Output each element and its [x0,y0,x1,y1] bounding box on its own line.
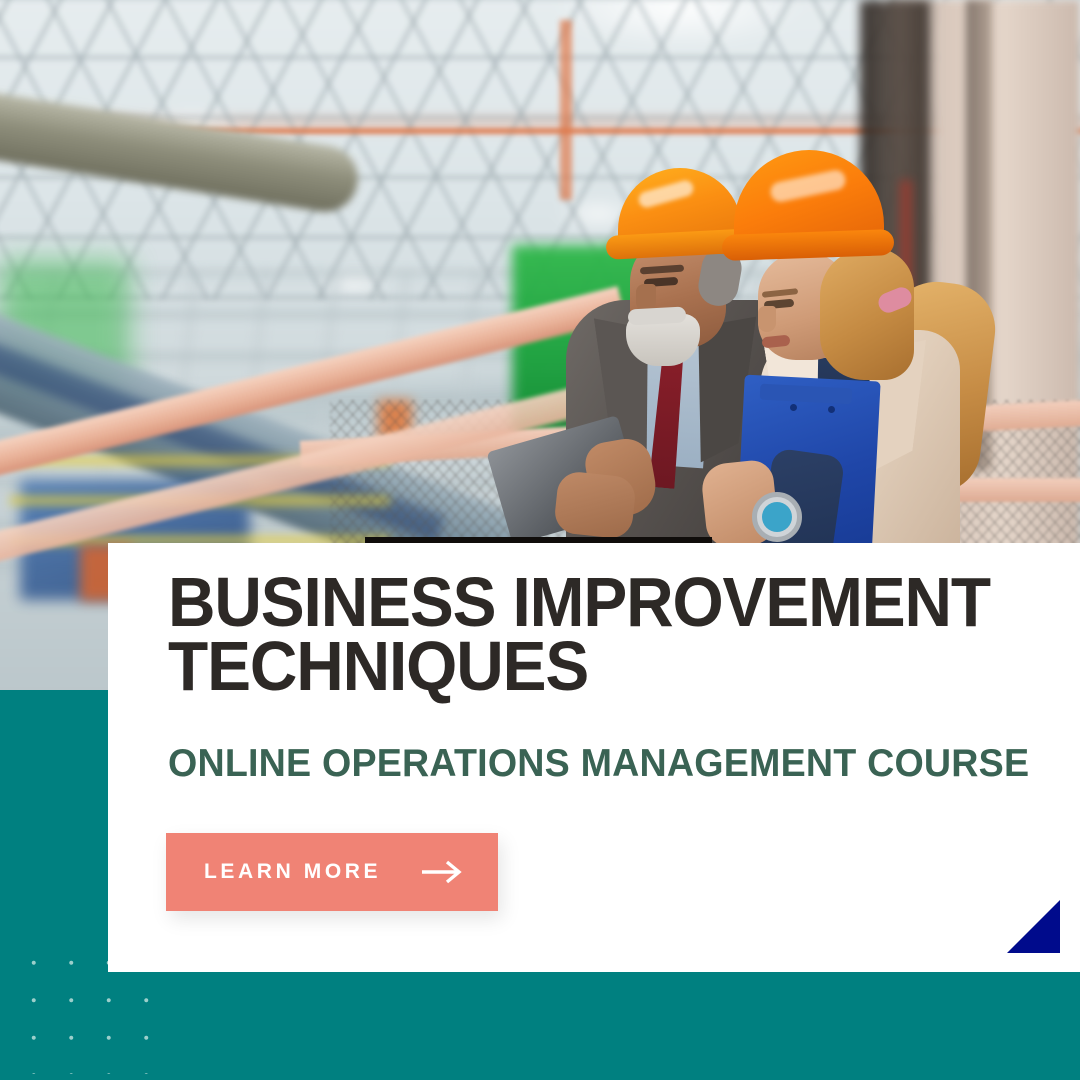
arrow-right-icon [420,859,464,885]
navy-corner-triangle [1007,900,1060,953]
content-card: BUSINESS IMPROVEMENT TECHNIQUES ONLINE O… [108,543,1080,972]
clipboard-hole [828,406,835,413]
poster-canvas: BUSINESS IMPROVEMENT TECHNIQUES ONLINE O… [0,0,1080,1080]
woman-nose [758,306,776,332]
clipboard-hole [790,404,797,411]
woman-hair [820,248,914,380]
page-title: BUSINESS IMPROVEMENT TECHNIQUES [168,570,995,699]
man-hand-holding [553,470,637,540]
man-mustache [628,306,687,325]
orange-vertical-pipe [560,20,572,200]
learn-more-button[interactable]: LEARN MORE [166,833,498,911]
wristwatch-face [762,502,792,532]
page-subtitle: ONLINE OPERATIONS MANAGEMENT COURSE [168,744,1029,783]
learn-more-label: LEARN MORE [204,860,381,884]
